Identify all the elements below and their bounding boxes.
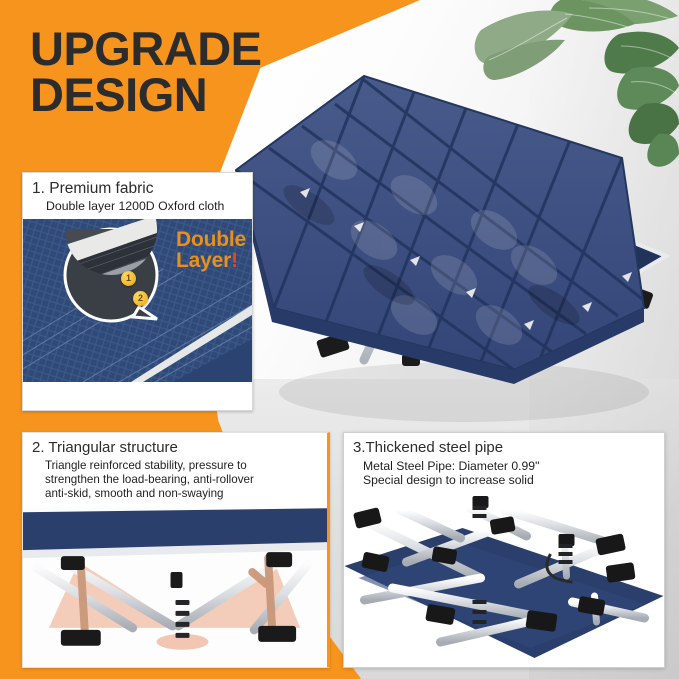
feature-panel-premium-fabric: 1. Premium fabric Double layer 1200D Oxf… [22, 172, 253, 411]
triangular-structure-photo [23, 506, 327, 668]
panel-3-body-line-2: Special design to increase solid [363, 473, 655, 487]
page-title: UPGRADE DESIGN [30, 26, 310, 118]
panel-2-body-line-1: Triangle reinforced stability, pressure … [45, 459, 318, 473]
callout-line-1: Double [176, 228, 246, 251]
panel-1-title: 1. Premium fabric [32, 180, 243, 197]
panel-3-body-line-1: Metal Steel Pipe: Diameter 0.99" [363, 459, 655, 473]
panel-1-header: 1. Premium fabric Double layer 1200D Oxf… [23, 173, 252, 219]
panel-2-header: 2. Triangular structure Triangle reinfor… [23, 433, 327, 506]
page-title-line-2: DESIGN [30, 72, 310, 118]
panel-1-subtitle: Double layer 1200D Oxford cloth [32, 199, 243, 213]
fabric-closeup-photo: 1 2 Double Layer! [23, 219, 252, 382]
feature-panel-thickened-steel-pipe: 3.Thickened steel pipe Metal Steel Pipe:… [343, 432, 665, 668]
panel-3-header: 3.Thickened steel pipe Metal Steel Pipe:… [344, 433, 664, 492]
panel-2-body: Triangle reinforced stability, pressure … [32, 459, 318, 501]
double-layer-callout: Double Layer! [176, 229, 246, 272]
infographic-page: 1. Premium fabric Double layer 1200D Oxf… [0, 0, 679, 679]
callout-line-2: Layer [176, 249, 231, 272]
panel-2-body-line-3: anti-skid, smooth and non-swaying [45, 487, 318, 501]
page-title-line-1: UPGRADE [30, 22, 262, 75]
panel-3-body: Metal Steel Pipe: Diameter 0.99" Special… [353, 459, 655, 487]
badge-layer-2: 2 [133, 291, 148, 306]
panel-2-body-line-2: strengthen the load-bearing, anti-rollov… [45, 473, 318, 487]
panel-2-title: 2. Triangular structure [32, 440, 318, 457]
panel-3-title: 3.Thickened steel pipe [353, 440, 655, 457]
steel-pipe-frame-photo [344, 492, 664, 664]
callout-exclamation: ! [231, 249, 238, 272]
feature-panel-triangular-structure: 2. Triangular structure Triangle reinfor… [22, 432, 330, 668]
badge-layer-1: 1 [121, 271, 136, 286]
